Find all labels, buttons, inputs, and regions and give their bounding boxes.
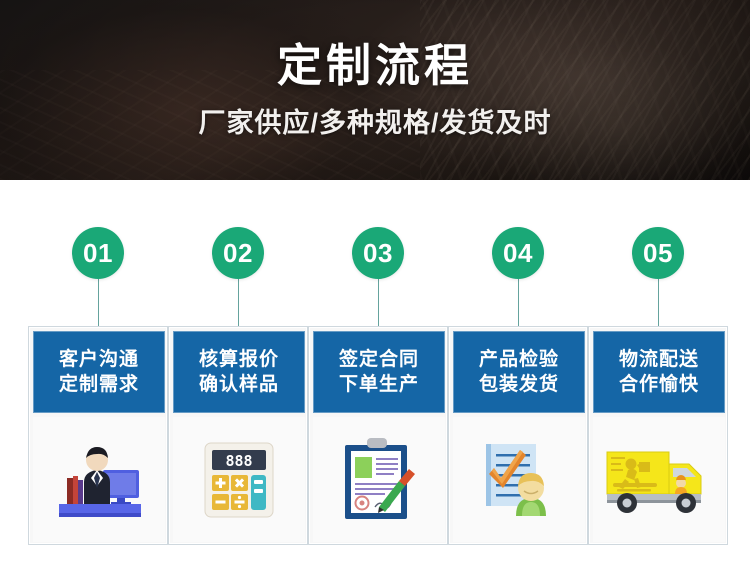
step-card-title: 物流配送 合作愉快	[593, 331, 725, 413]
contract-clipboard-pen-icon	[313, 417, 445, 542]
header-banner: 定制流程 厂家供应/多种规格/发货及时	[0, 0, 750, 180]
page-title: 定制流程	[277, 43, 473, 88]
step-card-title: 核算报价 确认样品	[173, 331, 305, 413]
step-card[interactable]: 物流配送 合作愉快	[588, 326, 728, 545]
step-card-image	[313, 417, 445, 542]
step-title-line1: 客户沟通	[59, 347, 139, 372]
step-connector-line	[518, 279, 519, 326]
step-card-image	[593, 417, 725, 542]
process-flow-section: 01 客户沟通 定制需求	[0, 180, 750, 575]
step-connector-line	[238, 279, 239, 326]
step-title-line1: 核算报价	[199, 347, 279, 372]
step-list: 01 客户沟通 定制需求	[0, 180, 750, 575]
step-card-image	[453, 417, 585, 542]
step-title-line2: 确认样品	[199, 372, 279, 397]
step-number-badge: 03	[352, 227, 404, 279]
step-number-badge: 01	[72, 227, 124, 279]
step-number-badge: 04	[492, 227, 544, 279]
step-card[interactable]: 签定合同 下单生产	[308, 326, 448, 545]
calculator-icon: 888	[173, 417, 305, 542]
calculator-display-value: 888	[225, 452, 252, 470]
step-card[interactable]: 客户沟通 定制需求	[28, 326, 168, 545]
step-connector-line	[98, 279, 99, 326]
step-card-title: 客户沟通 定制需求	[33, 331, 165, 413]
step-connector-line	[658, 279, 659, 326]
step-number-badge: 02	[212, 227, 264, 279]
step-title-line1: 签定合同	[339, 347, 419, 372]
step-title-line2: 合作愉快	[619, 372, 699, 397]
step-number-badge: 05	[632, 227, 684, 279]
step-title-line2: 定制需求	[59, 372, 139, 397]
banner-text-group: 定制流程 厂家供应/多种规格/发货及时	[0, 0, 750, 180]
step-card-title: 产品检验 包装发货	[453, 331, 585, 413]
step-title-line1: 物流配送	[619, 347, 699, 372]
promo-page: 定制流程 厂家供应/多种规格/发货及时 01 客户沟通 定制需求	[0, 0, 750, 575]
step-card[interactable]: 核算报价 确认样品 888	[168, 326, 308, 545]
businessman-at-desk-icon	[33, 417, 165, 542]
page-subtitle: 厂家供应/多种规格/发货及时	[198, 110, 551, 137]
step-title-line2: 包装发货	[479, 372, 559, 397]
step-title-line2: 下单生产	[339, 372, 419, 397]
step-connector-line	[378, 279, 379, 326]
step-card-image	[33, 417, 165, 542]
step-card-image: 888	[173, 417, 305, 542]
delivery-truck-icon	[593, 417, 725, 542]
step-card-title: 签定合同 下单生产	[313, 331, 445, 413]
step-title-line1: 产品检验	[479, 347, 559, 372]
step-card[interactable]: 产品检验 包装发货	[448, 326, 588, 545]
checklist-inspector-icon	[453, 417, 585, 542]
